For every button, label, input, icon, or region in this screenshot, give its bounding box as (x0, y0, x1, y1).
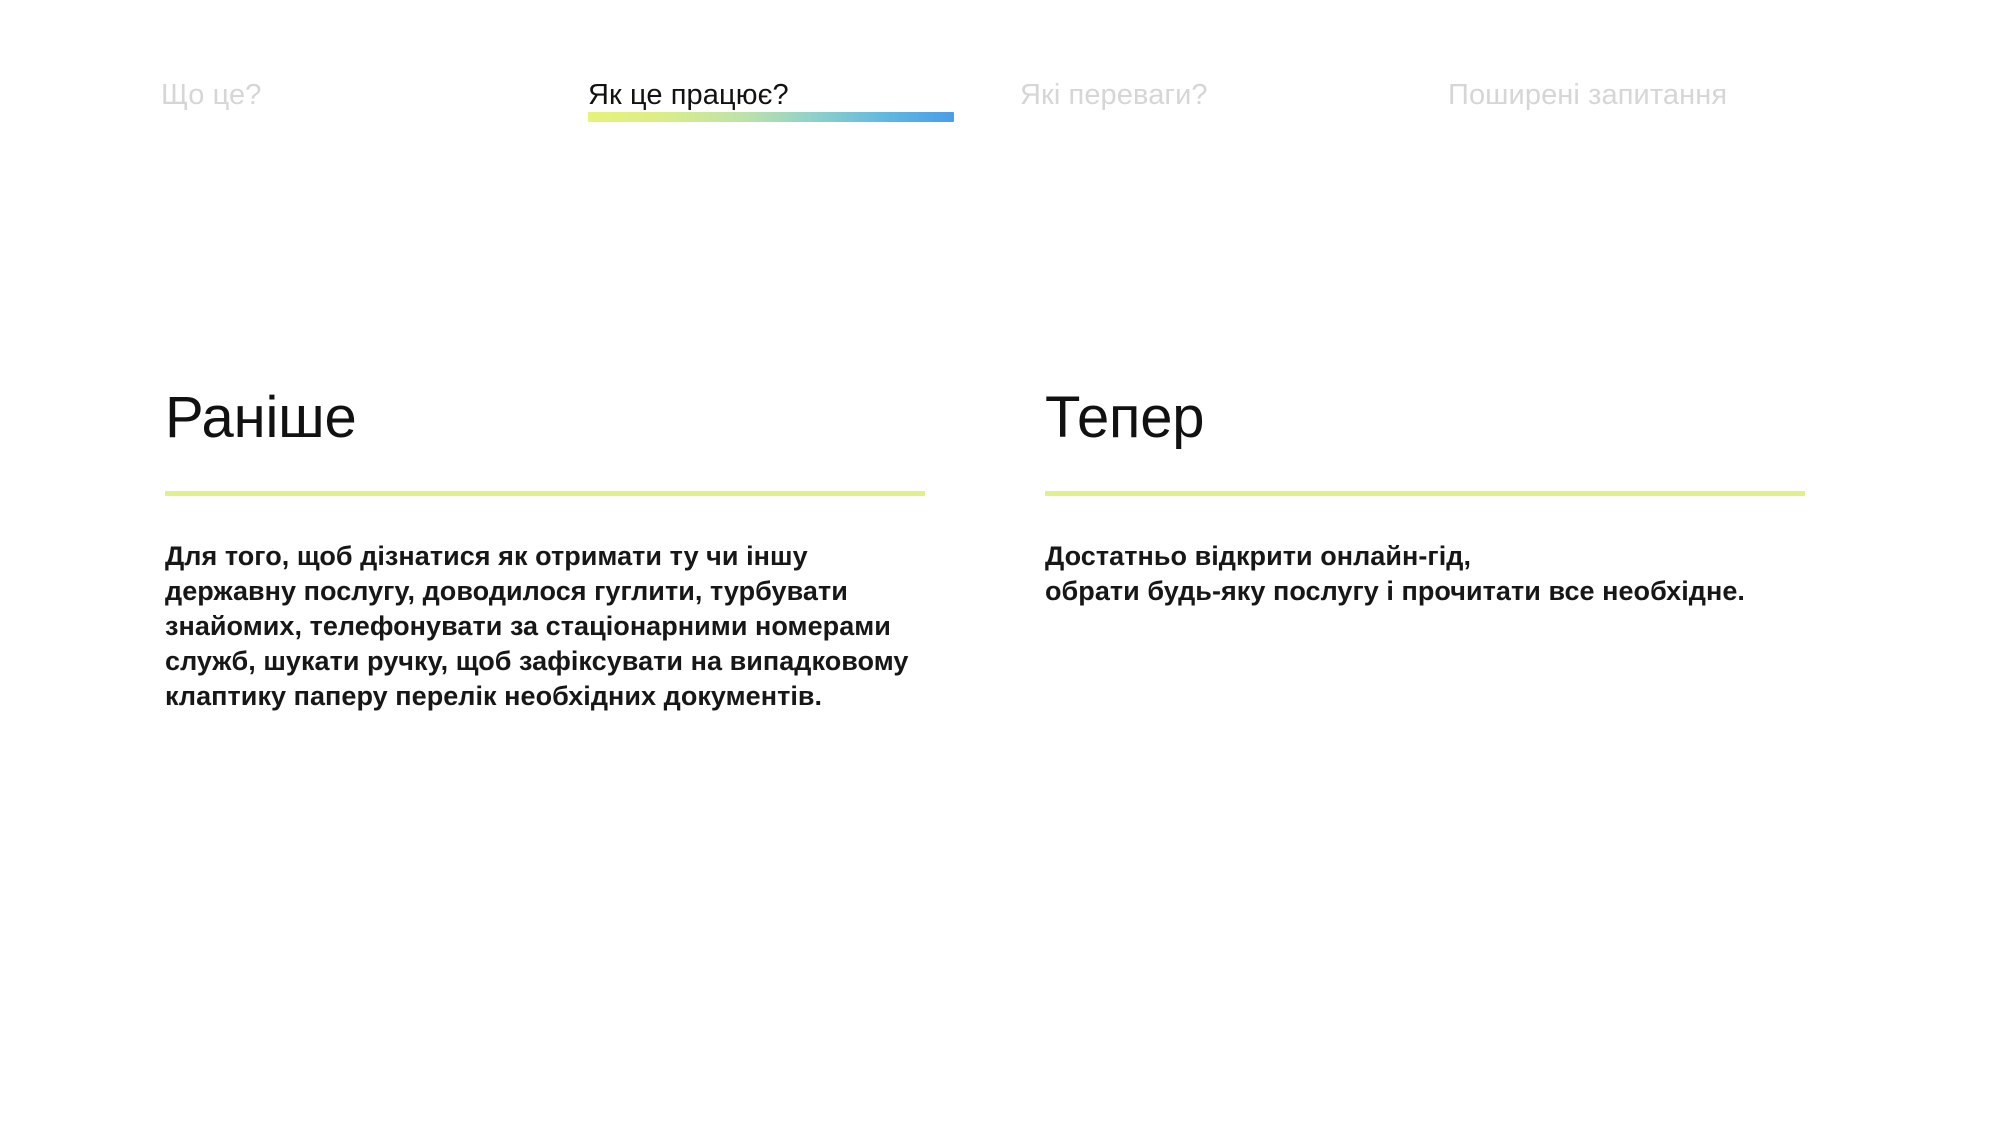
column-now-title: Тепер (1045, 385, 1805, 451)
comparison-columns: Раніше Для того, щоб дізнатися як отрима… (0, 0, 2000, 1125)
column-before-body: Для того, щоб дізнатися як отримати ту ч… (165, 539, 910, 714)
slide-root: Що це? Як це працює? Які переваги? Пошир… (0, 0, 2000, 1125)
column-now: Тепер Достатньо відкрити онлайн-гід, обр… (1045, 385, 1805, 636)
column-before: Раніше Для того, щоб дізнатися як отрима… (165, 385, 925, 741)
column-now-body: Достатньо відкрити онлайн-гід, обрати бу… (1045, 539, 1805, 609)
column-now-rule (1045, 491, 1805, 496)
column-before-rule (165, 491, 925, 496)
column-before-title: Раніше (165, 385, 925, 451)
